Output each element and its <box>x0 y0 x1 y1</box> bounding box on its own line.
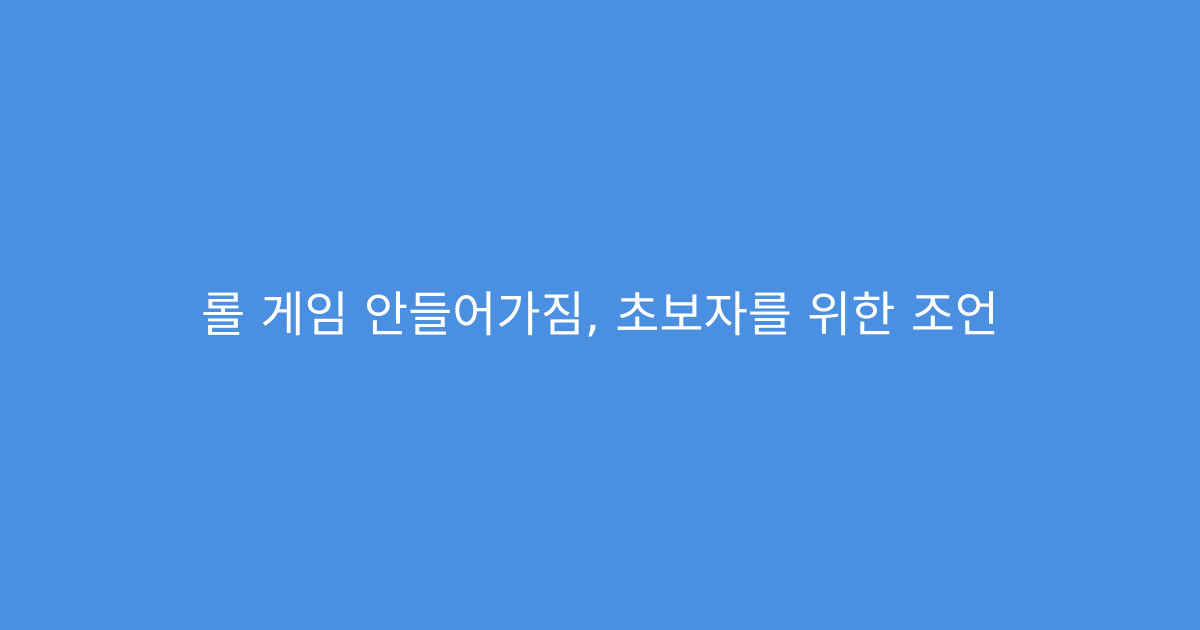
page-title: 롤 게임 안들어가짐, 초보자를 위한 조언 <box>50 285 1150 345</box>
og-thumbnail-card: 롤 게임 안들어가짐, 초보자를 위한 조언 <box>0 0 1200 630</box>
